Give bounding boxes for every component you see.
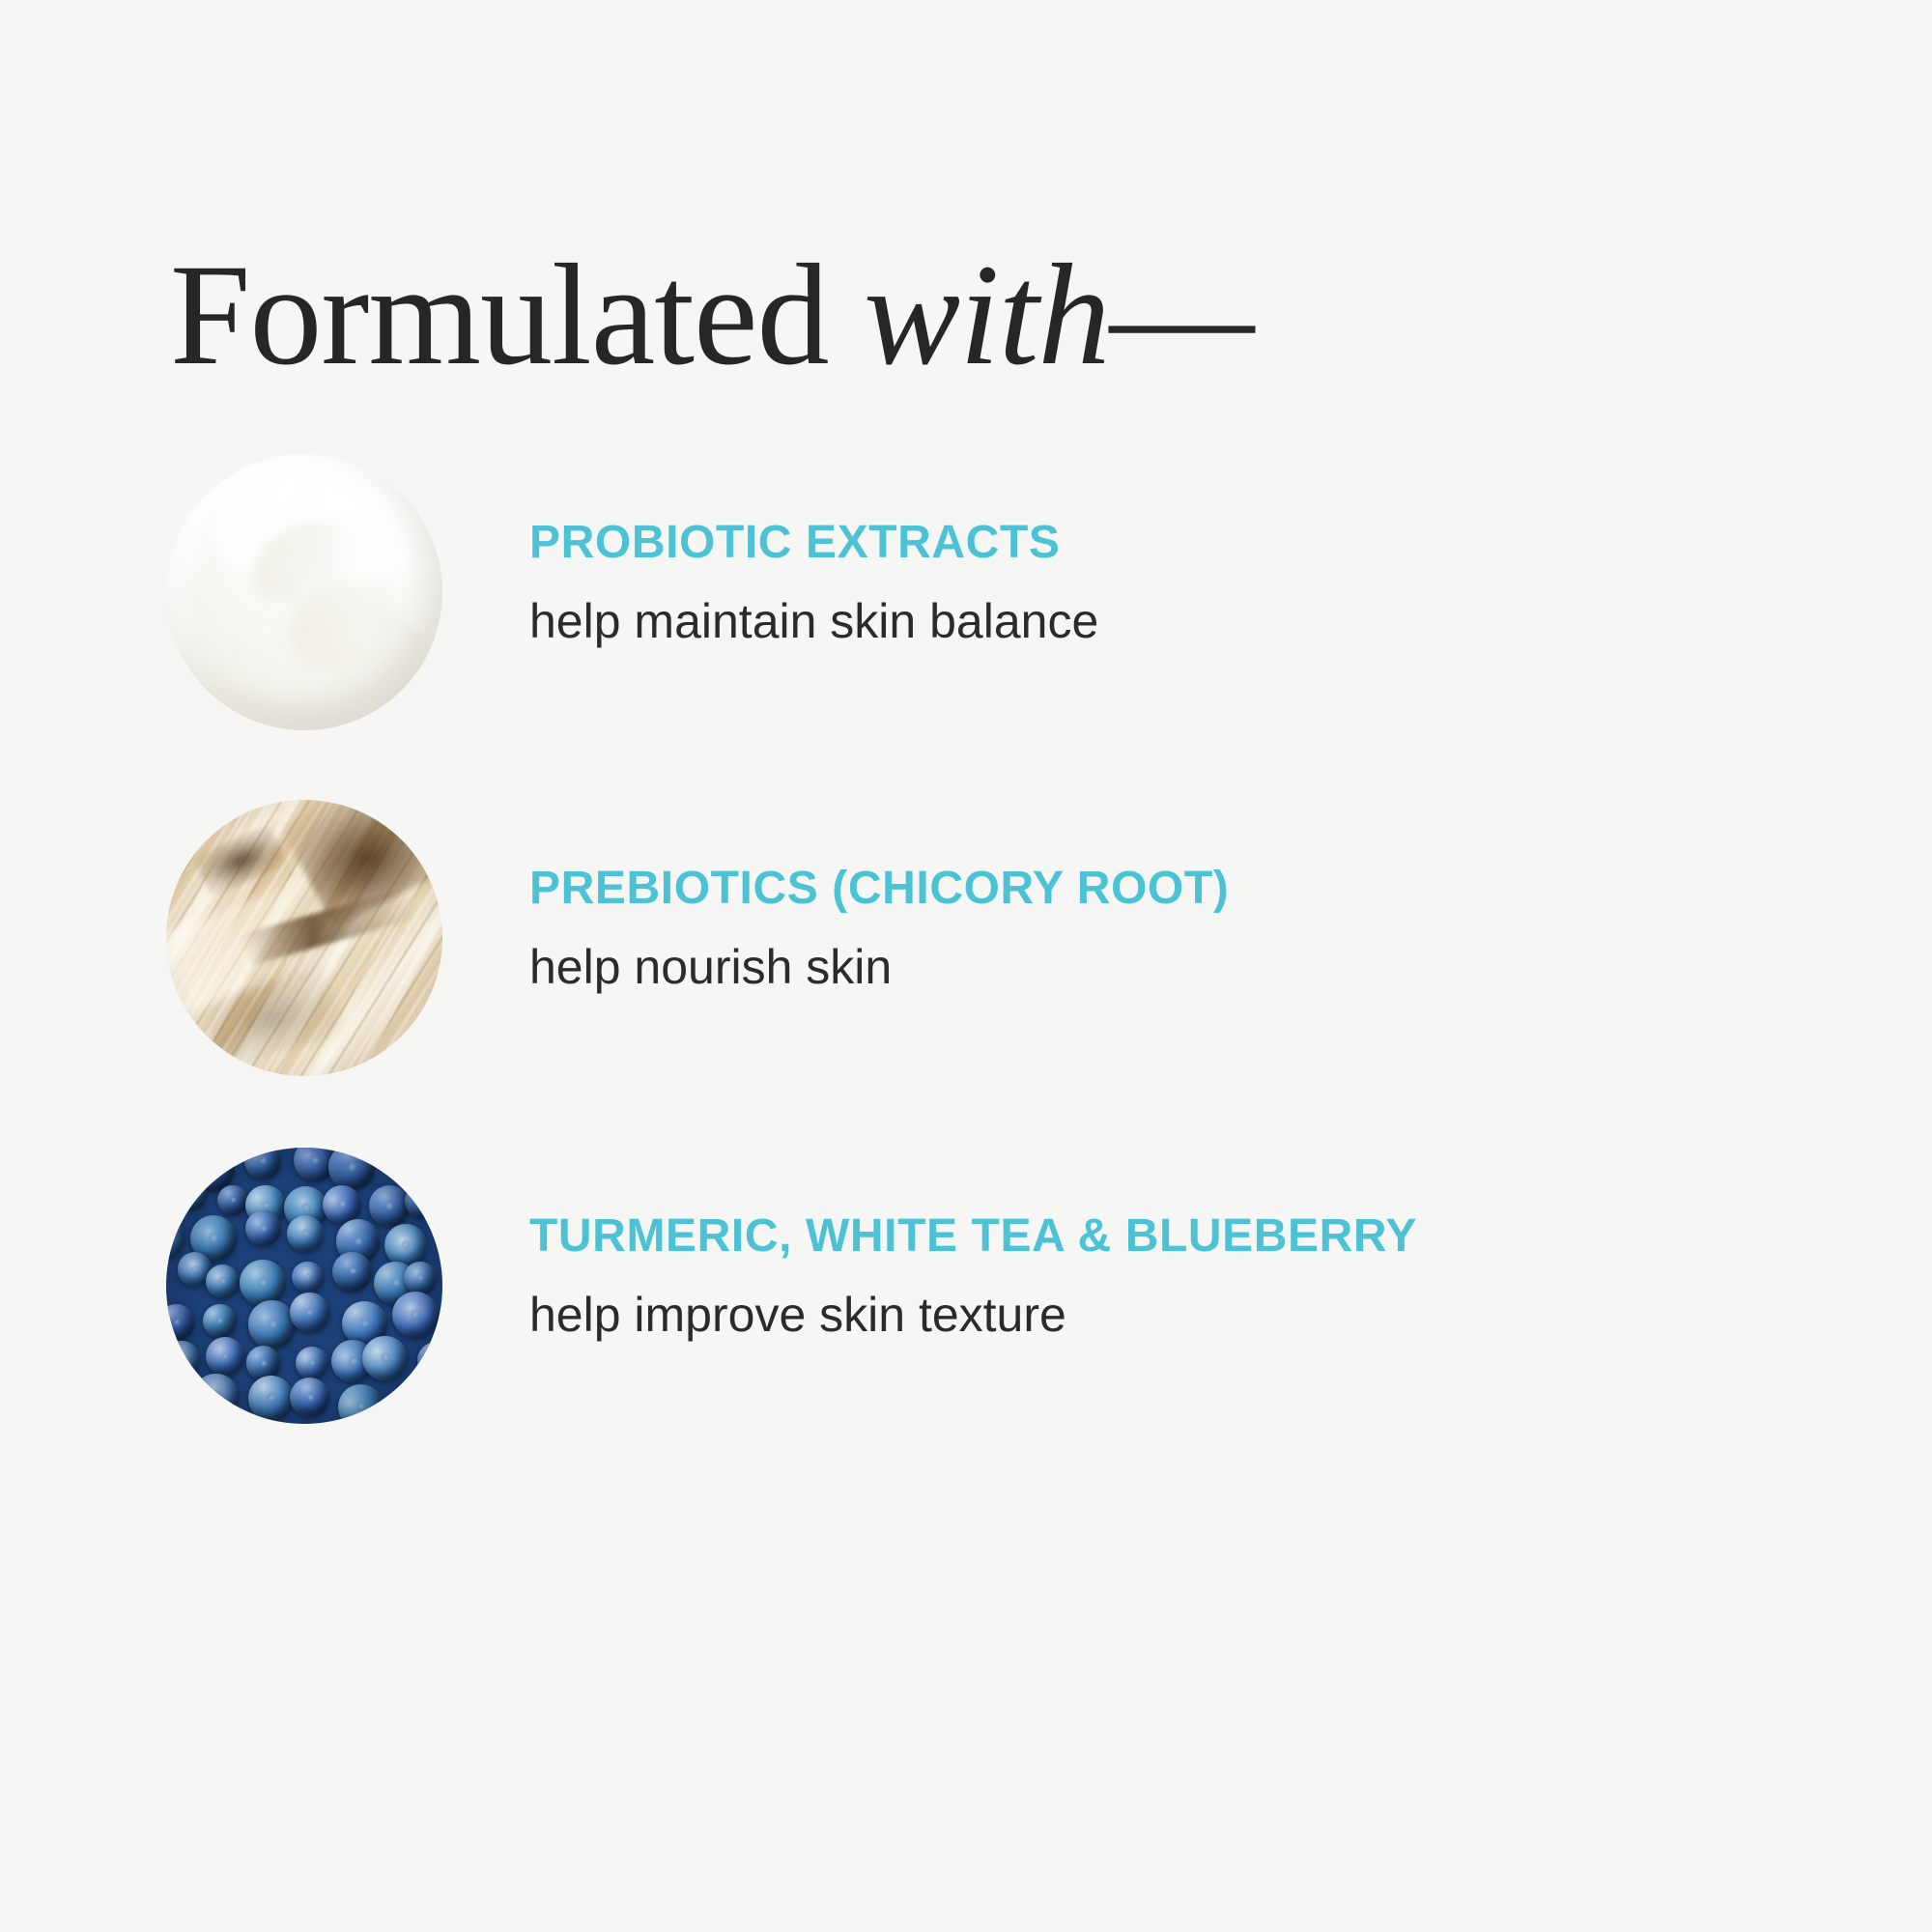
cream-shadow-icon bbox=[183, 598, 437, 730]
formulated-with-panel: Formulated with— PROBIOTIC EXTRACTS help… bbox=[0, 0, 1932, 1932]
ingredient-text-block: TURMERIC, WHITE TEA & BLUEBERRY help imp… bbox=[529, 1213, 1882, 1339]
ingredient-description: help nourish skin bbox=[529, 943, 1882, 991]
ingredient-text-block: PROBIOTIC EXTRACTS help maintain skin ba… bbox=[529, 520, 1882, 645]
ingredient-row: PROBIOTIC EXTRACTS help maintain skin ba… bbox=[0, 454, 1932, 744]
ingredient-title: PROBIOTIC EXTRACTS bbox=[529, 520, 1882, 566]
page-title: Formulated with— bbox=[170, 242, 1252, 387]
ingredient-title: TURMERIC, WHITE TEA & BLUEBERRY bbox=[529, 1213, 1882, 1260]
ingredient-description: help improve skin texture bbox=[529, 1291, 1882, 1339]
ingredient-title: PREBIOTICS (CHICORY ROOT) bbox=[529, 866, 1882, 912]
blueberry-swatch bbox=[166, 1148, 442, 1424]
ingredient-text-block: PREBIOTICS (CHICORY ROOT) help nourish s… bbox=[529, 866, 1882, 991]
page-title-roman: Formulated bbox=[170, 235, 829, 395]
page-title-italic: with bbox=[829, 235, 1110, 395]
ingredient-row: PREBIOTICS (CHICORY ROOT) help nourish s… bbox=[0, 800, 1932, 1090]
ingredient-description: help maintain skin balance bbox=[529, 597, 1882, 645]
ingredient-row: TURMERIC, WHITE TEA & BLUEBERRY help imp… bbox=[0, 1148, 1932, 1437]
page-title-dash: — bbox=[1109, 235, 1252, 395]
berry-vignette-icon bbox=[166, 1148, 442, 1424]
root-vignette-icon bbox=[166, 800, 442, 1076]
chicory-root-swatch bbox=[166, 800, 442, 1076]
cream-texture-swatch bbox=[166, 454, 442, 730]
